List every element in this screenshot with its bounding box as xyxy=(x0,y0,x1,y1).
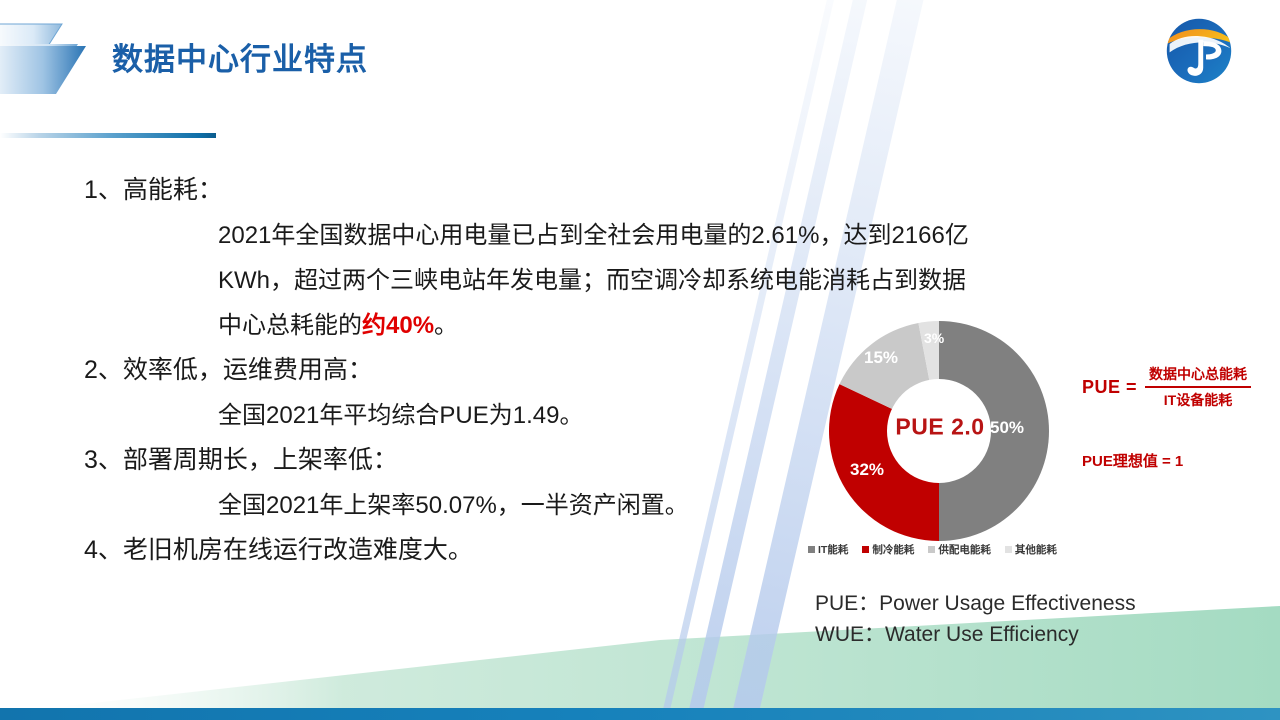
bullet-sub-1-1: 2021年全国数据中心用电量已占到全社会用电量的2.61%，达到2166亿 xyxy=(84,213,804,258)
legend-item-other: 其他能耗 xyxy=(1005,542,1057,557)
slice-label-power: 15% xyxy=(864,348,898,368)
legend-swatch-icon xyxy=(808,546,815,553)
legend-label: 供配电能耗 xyxy=(938,542,991,557)
legend-swatch-icon xyxy=(928,546,935,553)
bullet-item-4: 4、老旧机房在线运行改造难度大。 xyxy=(84,528,804,573)
legend-label: 制冷能耗 xyxy=(872,542,914,557)
bullet-sub-1-3: 中心总耗能的约40%。 xyxy=(84,303,804,348)
bullet-sub-3-1: 全国2021年上架率50.07%，一半资产闲置。 xyxy=(84,483,804,528)
pue-donut-chart: PUE 2.0 50% 32% 15% 3% IT能耗 制冷能耗 供配电能耗 其… xyxy=(800,320,1080,570)
slide-canvas: 数据中心行业特点 1、高能耗： xyxy=(0,0,1280,720)
sub-text: 全国2021年平均综合PUE为1.49。 xyxy=(218,402,583,429)
bullet-item-3: 3、部署周期长，上架率低： xyxy=(84,438,804,483)
legend-item-power: 供配电能耗 xyxy=(928,542,991,557)
bullet-sub-1-2: KWh，超过两个三峡电站年发电量；而空调冷却系统电能消耗占到数据 xyxy=(84,258,804,303)
page-title: 数据中心行业特点 xyxy=(112,34,368,79)
bullet-list: 1、高能耗： 2021年全国数据中心用电量已占到全社会用电量的2.61%，达到2… xyxy=(84,168,804,573)
bullet-item-2: 2、效率低，运维费用高： xyxy=(84,348,804,393)
bottom-accent-bar xyxy=(0,708,1280,720)
acronym-wue: WUE：Water Use Efficiency xyxy=(815,619,1136,650)
bullet-text-3: 部署周期长，上架率低： xyxy=(123,446,398,474)
formula-fraction: 数据中心总能耗 IT设备能耗 xyxy=(1145,364,1251,410)
sub-text: 中心总耗能的 xyxy=(218,312,362,339)
formula-equation: PUE = 数据中心总能耗 IT设备能耗 xyxy=(1082,364,1280,410)
bullet-number-1: 1、 xyxy=(84,176,123,204)
acronym-pue: PUE：Power Usage Effectiveness xyxy=(815,588,1136,619)
bullet-text-4: 老旧机房在线运行改造难度大。 xyxy=(123,536,473,564)
title-underline xyxy=(0,133,216,138)
bullet-number-3: 3、 xyxy=(84,446,123,474)
legend-item-it: IT能耗 xyxy=(808,542,848,557)
slice-label-it: 50% xyxy=(990,418,1024,438)
sub-text: KWh，超过两个三峡电站年发电量；而空调冷却系统电能消耗占到数据 xyxy=(218,267,966,294)
bullet-number-4: 4、 xyxy=(84,536,123,564)
highlight-percent: 约40% xyxy=(362,312,434,339)
slice-label-other: 3% xyxy=(924,330,944,346)
bullet-text-2: 效率低，运维费用高： xyxy=(123,356,373,384)
bullet-item-1: 1、高能耗： xyxy=(84,168,804,213)
slice-label-cooling: 32% xyxy=(850,460,884,480)
formula-numerator: 数据中心总能耗 xyxy=(1145,364,1251,386)
chart-legend: IT能耗 制冷能耗 供配电能耗 其他能耗 xyxy=(808,542,1057,557)
legend-item-cooling: 制冷能耗 xyxy=(862,542,914,557)
legend-swatch-icon xyxy=(1005,546,1012,553)
acronym-legend: PUE：Power Usage Effectiveness WUE：Water … xyxy=(815,588,1136,650)
sub-text-end: 。 xyxy=(434,312,458,339)
formula-ideal-value: PUE理想值 = 1 xyxy=(1082,450,1280,471)
legend-label: 其他能耗 xyxy=(1015,542,1057,557)
bullet-number-2: 2、 xyxy=(84,356,123,384)
bullet-text-1: 高能耗： xyxy=(123,176,223,204)
bullet-sub-2-1: 全国2021年平均综合PUE为1.49。 xyxy=(84,393,804,438)
legend-swatch-icon xyxy=(862,546,869,553)
pue-formula: PUE = 数据中心总能耗 IT设备能耗 PUE理想值 = 1 xyxy=(1082,364,1280,471)
formula-lhs: PUE = xyxy=(1082,377,1137,398)
formula-denominator: IT设备能耗 xyxy=(1160,388,1236,410)
sub-text: 全国2021年上架率50.07%，一半资产闲置。 xyxy=(218,492,689,519)
legend-label: IT能耗 xyxy=(818,542,848,557)
company-logo-icon xyxy=(1164,16,1234,86)
donut-center-label: PUE 2.0 xyxy=(895,414,984,441)
sub-text: 2021年全国数据中心用电量已占到全社会用电量的2.61%，达到2166亿 xyxy=(218,222,969,249)
